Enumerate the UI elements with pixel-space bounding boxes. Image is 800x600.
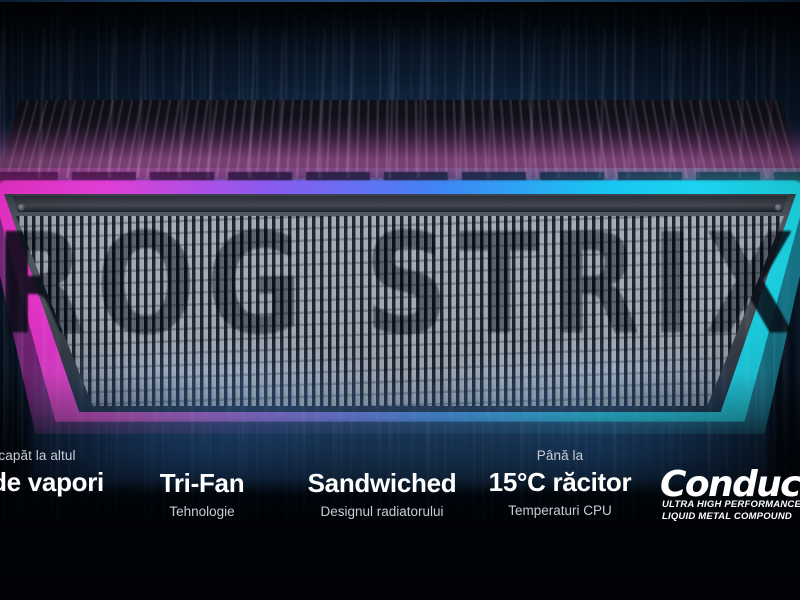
feature-sub: Designul radiatorului (272, 504, 492, 519)
logo-tagline-line1: ULTRA HIGH PERFORMANCE (662, 499, 800, 511)
feature-headline: Sandwiched (272, 470, 492, 497)
feature-kicker: capăt la altul (0, 448, 152, 463)
feature-sub: Tehnologie (132, 504, 272, 519)
feature-kicker: Până la (470, 448, 650, 463)
feature-tri-fan: Tri-Fan Tehnologie (132, 470, 272, 519)
feature-headline: 15°C răcitor (470, 469, 650, 496)
feature-cpu-temp: Până la 15°C răcitor Temperaturi CPU (470, 448, 650, 518)
conductonaut-extreme-logo: Conducto e ULTRA HIGH PERFORMANCE LIQUID… (660, 466, 800, 528)
feature-vapor-chamber: capăt la altul ă de vapori (0, 448, 152, 496)
promo-banner: ROG STRIX capăt la altul ă de vapori Tri… (0, 0, 800, 600)
feature-headline: ă de vapori (0, 469, 152, 496)
feature-sub: Temperaturi CPU (470, 503, 650, 518)
feature-sandwiched: Sandwiched Designul radiatorului (272, 470, 492, 519)
logo-tagline: ULTRA HIGH PERFORMANCE LIQUID METAL COMP… (662, 499, 800, 523)
logo-tagline-line2: LIQUID METAL COMPOUND (662, 511, 800, 523)
feature-headline: Tri-Fan (132, 470, 272, 497)
top-edge-line (0, 0, 800, 2)
